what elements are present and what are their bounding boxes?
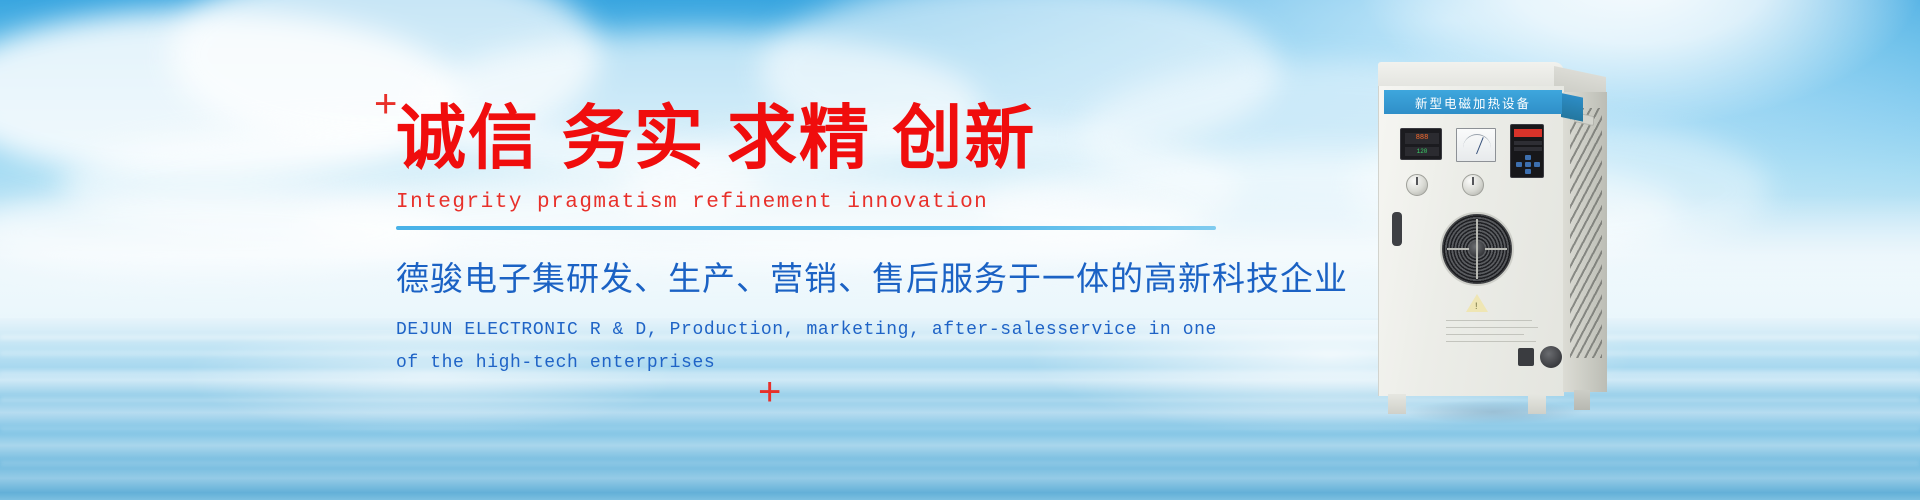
divider-rule bbox=[396, 226, 1216, 230]
machine-top-panel bbox=[1378, 62, 1564, 88]
spec-line bbox=[1446, 320, 1532, 321]
body-english-line-1: DEJUN ELECTRONIC R & D, Production, mark… bbox=[396, 314, 1266, 347]
body-english: DEJUN ELECTRONIC R & D, Production, mark… bbox=[396, 314, 1266, 381]
machine-cooling-fan-grille bbox=[1440, 212, 1514, 286]
machine-foot bbox=[1388, 394, 1406, 414]
machine-side-vents bbox=[1570, 108, 1602, 358]
machine-label-side bbox=[1561, 93, 1583, 122]
body-chinese: 德骏电子集研发、生产、营销、售后服务于一体的高新科技企业 bbox=[396, 252, 1266, 300]
machine-round-port bbox=[1540, 346, 1562, 368]
machine-label: 新型电磁加热设备 bbox=[1384, 90, 1562, 114]
keypad-key bbox=[1516, 162, 1522, 167]
controller-display-primary: 888 bbox=[1405, 133, 1439, 144]
machine-digital-controller: 888 120 bbox=[1400, 128, 1442, 160]
spec-line bbox=[1446, 334, 1524, 335]
promo-banner: + + 诚信 务实 求精 创新 Integrity pragmatism ref… bbox=[0, 0, 1920, 500]
machine-spec-plate bbox=[1446, 320, 1542, 348]
keypad-key bbox=[1525, 162, 1531, 167]
spec-line bbox=[1446, 327, 1538, 328]
machine-foot bbox=[1528, 394, 1546, 414]
machine-foot bbox=[1574, 390, 1590, 410]
warning-mark: ! bbox=[1475, 302, 1478, 311]
meter-arc bbox=[1463, 134, 1491, 148]
controller-display-secondary: 120 bbox=[1405, 147, 1439, 156]
keypad-row bbox=[1514, 147, 1542, 151]
headline-english: Integrity pragmatism refinement innovati… bbox=[396, 191, 1266, 214]
keypad-red-bar bbox=[1514, 129, 1542, 137]
fan-hub bbox=[1469, 241, 1485, 257]
spec-line bbox=[1446, 341, 1536, 342]
keypad-key bbox=[1525, 155, 1531, 160]
machine-knob-right bbox=[1462, 174, 1484, 196]
keypad-key bbox=[1525, 169, 1531, 174]
machine-side-handle bbox=[1392, 212, 1402, 246]
keypad-keys bbox=[1516, 155, 1540, 175]
keypad-key bbox=[1534, 162, 1540, 167]
plus-decoration-icon: + bbox=[374, 84, 397, 124]
banner-copy: 诚信 务实 求精 创新 Integrity pragmatism refinem… bbox=[396, 100, 1266, 381]
machine-keypad-panel bbox=[1510, 124, 1544, 178]
headline-chinese: 诚信 务实 求精 创新 bbox=[396, 100, 1266, 177]
machine-connector-port bbox=[1518, 348, 1534, 366]
product-machine-image: 新型电磁加热设备 888 120 bbox=[1378, 62, 1608, 427]
machine-analog-meter bbox=[1456, 128, 1496, 162]
machine-knob-left bbox=[1406, 174, 1428, 196]
keypad-row bbox=[1514, 141, 1542, 145]
body-english-line-2: of the high-tech enterprises bbox=[396, 347, 1266, 380]
